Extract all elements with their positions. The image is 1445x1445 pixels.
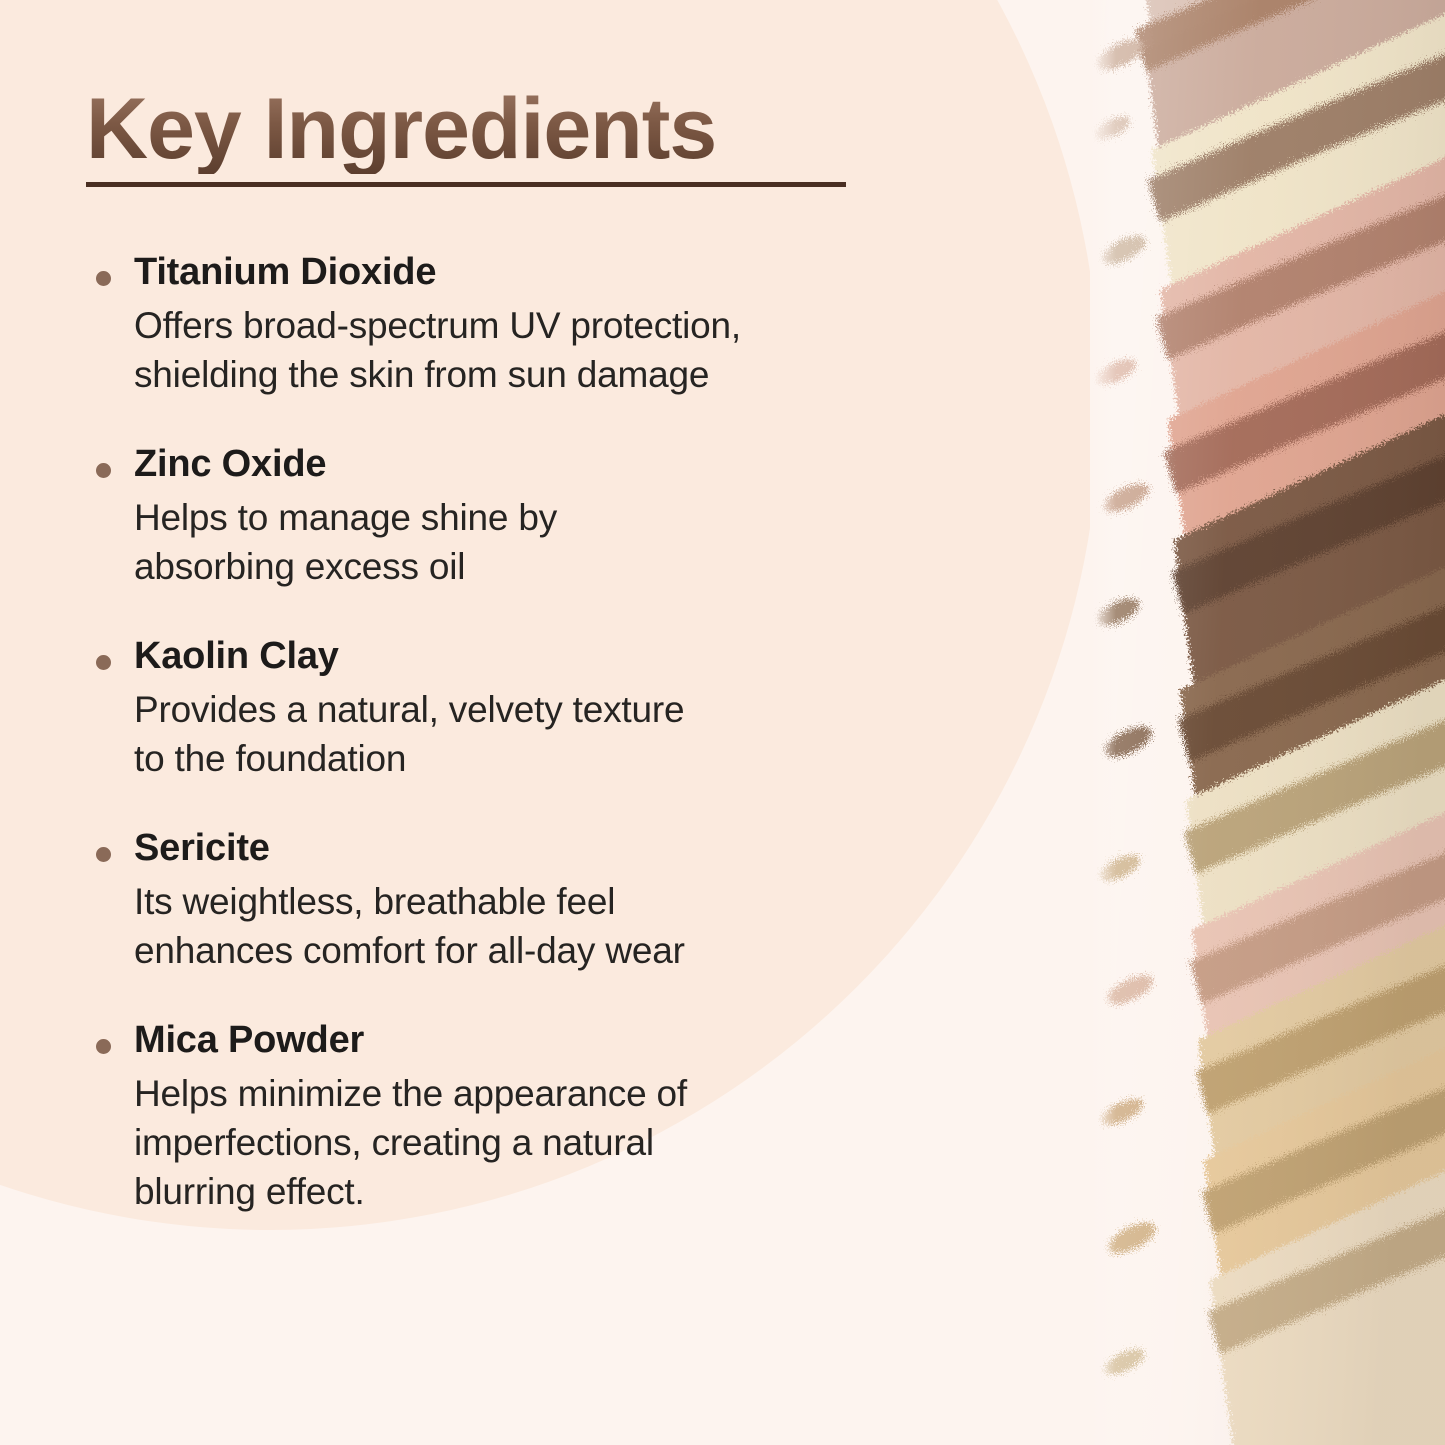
ingredient-item-zinc-oxide: Zinc Oxide Helps to manage shine by abso… bbox=[86, 440, 1016, 591]
page-title-underline bbox=[86, 182, 846, 187]
ingredient-item-sericite: Sericite Its weightless, breathable feel… bbox=[86, 824, 1016, 975]
ingredients-list: Titanium Dioxide Offers broad-spectrum U… bbox=[86, 248, 1016, 1216]
ingredient-item-mica-powder: Mica Powder Helps minimize the appearanc… bbox=[86, 1016, 1016, 1216]
ingredient-name: Titanium Dioxide bbox=[134, 248, 1016, 297]
ingredient-name: Sericite bbox=[134, 824, 1016, 873]
ingredient-description: Helps minimize the appearance of imperfe… bbox=[134, 1069, 1016, 1217]
ingredient-description: Its weightless, breathable feel enhances… bbox=[134, 877, 1016, 975]
bullet-dot-icon bbox=[96, 271, 111, 286]
ingredient-description: Helps to manage shine by absorbing exces… bbox=[134, 493, 1016, 591]
bullet-dot-icon bbox=[96, 463, 111, 478]
ingredient-item-titanium-dioxide: Titanium Dioxide Offers broad-spectrum U… bbox=[86, 248, 1016, 399]
ingredient-description: Offers broad-spectrum UV protection, shi… bbox=[134, 301, 1016, 399]
page-title: Key Ingredients bbox=[86, 86, 716, 174]
bullet-dot-icon bbox=[96, 1039, 111, 1054]
content-column: Key Ingredients Titanium Dioxide Offers … bbox=[0, 0, 1060, 1445]
bullet-dot-icon bbox=[96, 655, 111, 670]
page-title-block: Key Ingredients bbox=[86, 86, 716, 174]
powder-swatch-image bbox=[1090, 0, 1445, 1445]
key-ingredients-infographic: Key Ingredients Titanium Dioxide Offers … bbox=[0, 0, 1445, 1445]
ingredient-name: Zinc Oxide bbox=[134, 440, 1016, 489]
ingredient-name: Kaolin Clay bbox=[134, 632, 1016, 681]
ingredient-name: Mica Powder bbox=[134, 1016, 1016, 1065]
bullet-dot-icon bbox=[96, 847, 111, 862]
ingredient-description: Provides a natural, velvety texture to t… bbox=[134, 685, 1016, 783]
ingredient-item-kaolin-clay: Kaolin Clay Provides a natural, velvety … bbox=[86, 632, 1016, 783]
